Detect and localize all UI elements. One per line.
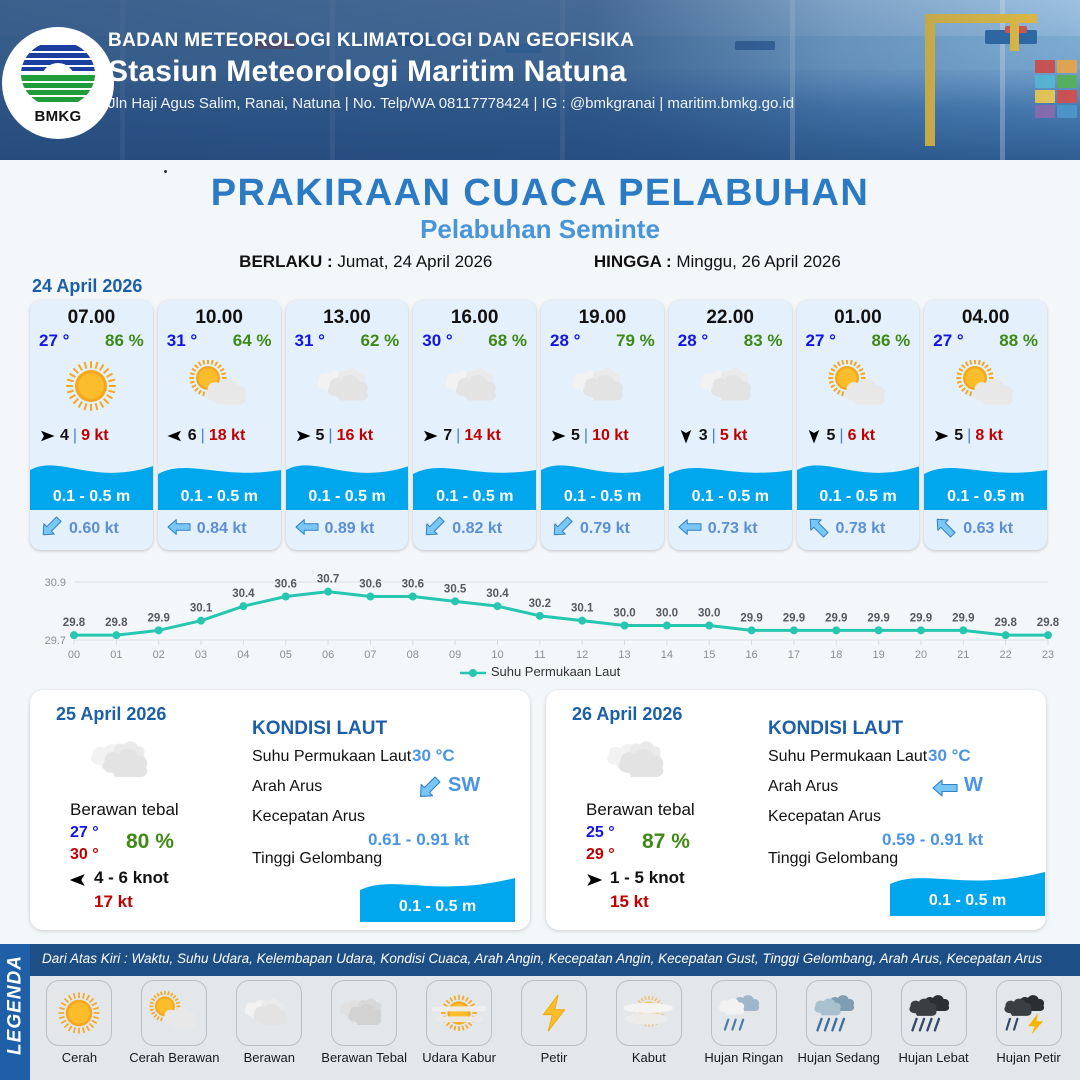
- agency-name: BADAN METEOROLOGI KLIMATOLOGI DAN GEOFIS…: [108, 30, 794, 52]
- card-current-row: 0.73 kt: [669, 514, 792, 544]
- day-wind-arrow: [66, 870, 90, 890]
- legend-item: Hujan Ringan: [696, 980, 791, 1065]
- legend-item-label: Cerah Berawan: [127, 1050, 222, 1065]
- legend-note-bar: Dari Atas Kiri : Waktu, Suhu Udara, Kele…: [30, 944, 1080, 976]
- day-wave-height: 0.1 - 0.5 m: [360, 898, 515, 916]
- bmkg-logo: BMKG: [2, 27, 114, 139]
- card-gust: 5 kt: [720, 427, 748, 445]
- legend-item-label: Hujan Sedang: [791, 1050, 886, 1065]
- sea-condition-title: KONDISI LAUT: [252, 718, 387, 740]
- svg-text:30.0: 30.0: [613, 608, 635, 620]
- card-wave-height: 0.1 - 0.5 m: [413, 488, 536, 506]
- legend-item-label: Berawan Tebal: [317, 1050, 412, 1065]
- card-current-speed: 0.89 kt: [325, 520, 375, 538]
- legend-item-label: Kabut: [601, 1050, 696, 1065]
- validity-row: BERLAKU : Jumat, 24 April 2026 HINGGA : …: [0, 252, 1080, 272]
- svg-text:29.8: 29.8: [1037, 617, 1060, 629]
- card-wave-height: 0.1 - 0.5 m: [924, 488, 1047, 506]
- current-direction-icon: [930, 776, 960, 800]
- current-direction-icon: [805, 516, 831, 538]
- current-direction-icon: [294, 516, 320, 538]
- svg-text:10: 10: [491, 649, 503, 661]
- card-temp-humidity-row: 28 ° 83 %: [669, 329, 792, 351]
- card-time: 01.00: [797, 307, 920, 329]
- card-wave-area: 0.1 - 0.5 m: [669, 452, 792, 510]
- current-speed-value: 0.59 - 0.91 kt: [882, 830, 983, 850]
- card-humidity: 86 %: [872, 331, 911, 351]
- legend-marker-icon: [460, 668, 486, 678]
- current-direction-label: Arah Arus: [252, 778, 322, 796]
- legend-item: Hujan Lebat: [886, 980, 981, 1065]
- card-temperature: 28 °: [678, 331, 708, 351]
- svg-text:30.6: 30.6: [359, 579, 381, 591]
- forecast-card[interactable]: 04.00 27 ° 88 % 5 | 8 kt 0.1 - 0.5 m 0.6…: [924, 300, 1047, 550]
- legend-item: Hujan Sedang: [791, 980, 886, 1065]
- card-time: 10.00: [158, 307, 281, 329]
- card-humidity: 62 %: [361, 331, 400, 351]
- card-time: 16.00: [413, 307, 536, 329]
- forecast-card[interactable]: 13.00 31 ° 62 % 5 | 16 kt 0.1 - 0.5 m 0.…: [286, 300, 409, 550]
- svg-text:19: 19: [872, 649, 884, 661]
- valid-until-value: Minggu, 26 April 2026: [676, 252, 840, 271]
- legend-icon-box: [806, 980, 872, 1046]
- card-wave-area: 0.1 - 0.5 m: [797, 452, 920, 510]
- card-wave-area: 0.1 - 0.5 m: [30, 452, 153, 510]
- legend-side-bar: LEGENDA: [0, 944, 30, 1080]
- svg-text:18: 18: [830, 649, 842, 661]
- svg-text:30.2: 30.2: [529, 598, 551, 610]
- svg-text:29.9: 29.9: [783, 612, 805, 624]
- wind-direction-icon: [37, 427, 57, 445]
- forecast-card[interactable]: 22.00 28 ° 83 % 3 | 5 kt 0.1 - 0.5 m 0.7…: [669, 300, 792, 550]
- card-humidity: 83 %: [744, 331, 783, 351]
- legend-icon-box: [46, 980, 112, 1046]
- svg-text:29.9: 29.9: [825, 612, 847, 624]
- svg-text:09: 09: [449, 649, 461, 661]
- card-current-speed: 0.82 kt: [452, 520, 502, 538]
- current-speed-label: Kecepatan Arus: [252, 808, 365, 826]
- separator: |: [73, 427, 77, 445]
- wind-direction-arrow: [165, 427, 185, 445]
- svg-text:30.9: 30.9: [45, 577, 66, 589]
- forecast-card[interactable]: 16.00 30 ° 68 % 7 | 14 kt 0.1 - 0.5 m 0.…: [413, 300, 536, 550]
- legend-item: Berawan Tebal: [317, 980, 412, 1065]
- legend-item-label: Berawan: [222, 1050, 317, 1065]
- svg-text:17: 17: [788, 649, 800, 661]
- separator: |: [328, 427, 332, 445]
- current-direction-arrow: [38, 516, 64, 543]
- separator: |: [712, 427, 716, 445]
- card-wind-speed: 7: [443, 427, 452, 445]
- day-temp-max: 30 °: [70, 846, 99, 864]
- legend-icon-box: [331, 980, 397, 1046]
- wind-direction-icon: [931, 427, 951, 445]
- card-temp-humidity-row: 28 ° 79 %: [541, 329, 664, 351]
- card-temperature: 31 °: [167, 331, 197, 351]
- legend-icon-list: Cerah Cerah Berawan Berawan Berawan Teba…: [32, 980, 1076, 1065]
- current-direction-icon: [166, 516, 192, 538]
- current-speed-value: 0.61 - 0.91 kt: [368, 830, 469, 850]
- card-wind-speed: 3: [699, 427, 708, 445]
- card-weather-icon: [924, 355, 1047, 417]
- sst-label: Suhu Permukaan Laut: [768, 748, 927, 766]
- current-direction-icon: [677, 516, 703, 538]
- current-direction-arrow: [805, 516, 831, 543]
- card-current-speed: 0.60 kt: [69, 520, 119, 538]
- sst-value: 30 °C: [928, 746, 971, 766]
- card-weather-icon: [669, 355, 792, 417]
- card-wind-speed: 5: [954, 427, 963, 445]
- current-direction-icon: [932, 516, 958, 538]
- contact-info: Jln Haji Agus Salim, Ranai, Natuna | No.…: [108, 95, 794, 112]
- card-wave-height: 0.1 - 0.5 m: [30, 488, 153, 506]
- card-time: 13.00: [286, 307, 409, 329]
- day-date: 25 April 2026: [56, 704, 166, 725]
- card-wind-row: 5 | 16 kt: [286, 421, 409, 451]
- svg-text:29.9: 29.9: [910, 612, 932, 624]
- forecast-card[interactable]: 19.00 28 ° 79 % 5 | 10 kt 0.1 - 0.5 m 0.…: [541, 300, 664, 550]
- wind-direction-icon: [676, 427, 696, 445]
- card-wind-speed: 6: [188, 427, 197, 445]
- legend-icon-box: [711, 980, 777, 1046]
- card-weather-icon: [413, 355, 536, 417]
- current-direction-value: SW: [448, 774, 480, 797]
- svg-text:29.9: 29.9: [952, 612, 974, 624]
- wind-direction-arrow: [420, 427, 440, 445]
- card-temp-humidity-row: 27 ° 86 %: [797, 329, 920, 351]
- day-wind-arrow: [582, 870, 606, 890]
- separator: |: [584, 427, 588, 445]
- valid-until-label: HINGGA :: [594, 252, 672, 271]
- card-current-speed: 0.73 kt: [708, 520, 758, 538]
- wind-direction-icon: [165, 427, 185, 445]
- svg-text:29.8: 29.8: [63, 617, 86, 629]
- card-temp-humidity-row: 30 ° 68 %: [413, 329, 536, 351]
- legend-item: Cerah Berawan: [127, 980, 222, 1065]
- svg-text:22: 22: [1000, 649, 1012, 661]
- wave-height-label: Tinggi Gelombang: [252, 850, 382, 868]
- svg-text:03: 03: [195, 649, 207, 661]
- svg-text:23: 23: [1042, 649, 1054, 661]
- svg-text:21: 21: [957, 649, 969, 661]
- wind-direction-arrow: [293, 427, 313, 445]
- day-temp-min: 25 °: [586, 824, 615, 842]
- forecast-card[interactable]: 10.00 31 ° 64 % 6 | 18 kt 0.1 - 0.5 m 0.…: [158, 300, 281, 550]
- sst-value: 30 °C: [412, 746, 455, 766]
- wind-direction-icon: [804, 427, 824, 445]
- wind-direction-icon: [293, 427, 313, 445]
- card-wave-area: 0.1 - 0.5 m: [286, 452, 409, 510]
- card-current-speed: 0.84 kt: [197, 520, 247, 538]
- current-direction-icon: [549, 516, 575, 538]
- card-wind-row: 3 | 5 kt: [669, 421, 792, 451]
- card-wave-height: 0.1 - 0.5 m: [541, 488, 664, 506]
- svg-text:29.7: 29.7: [45, 635, 66, 647]
- svg-text:30.6: 30.6: [402, 579, 424, 591]
- card-wave-height: 0.1 - 0.5 m: [286, 488, 409, 506]
- legend-item: Berawan: [222, 980, 317, 1065]
- current-direction-icon: [38, 516, 64, 538]
- legend-item: Udara Kabur: [412, 980, 507, 1065]
- wind-direction-icon: [66, 870, 90, 890]
- card-humidity: 68 %: [488, 331, 527, 351]
- card-gust: 6 kt: [848, 427, 876, 445]
- card-humidity: 86 %: [105, 331, 144, 351]
- svg-text:16: 16: [745, 649, 757, 661]
- day-condition: Berawan tebal: [70, 800, 179, 820]
- svg-text:30.1: 30.1: [190, 603, 213, 615]
- svg-text:29.9: 29.9: [867, 612, 889, 624]
- day-wind-speed: 1 - 5 knot: [610, 868, 685, 888]
- bmkg-logo-mark: [21, 41, 95, 107]
- card-wave-area: 0.1 - 0.5 m: [413, 452, 536, 510]
- page-header: BMKG BADAN METEOROLOGI KLIMATOLOGI DAN G…: [0, 0, 1080, 160]
- current-direction-arrow: [549, 516, 575, 543]
- current-direction-value: W: [964, 774, 983, 797]
- card-temp-humidity-row: 31 ° 62 %: [286, 329, 409, 351]
- legend-icon-box: [901, 980, 967, 1046]
- svg-text:29.8: 29.8: [994, 617, 1017, 629]
- card-humidity: 79 %: [616, 331, 655, 351]
- card-time: 22.00: [669, 307, 792, 329]
- card-wind-speed: 5: [316, 427, 325, 445]
- card-current-row: 0.84 kt: [158, 514, 281, 544]
- svg-text:29.8: 29.8: [105, 617, 128, 629]
- legend-item-label: Cerah: [32, 1050, 127, 1065]
- card-weather-icon: [158, 355, 281, 417]
- svg-text:30.6: 30.6: [275, 579, 297, 591]
- svg-text:30.4: 30.4: [486, 588, 509, 600]
- bmkg-logo-text: BMKG: [34, 108, 81, 125]
- card-wind-speed: 4: [60, 427, 69, 445]
- card-temperature: 27 °: [933, 331, 963, 351]
- legend-item-label: Hujan Lebat: [886, 1050, 981, 1065]
- svg-text:20: 20: [915, 649, 927, 661]
- svg-text:30.1: 30.1: [571, 603, 594, 615]
- card-gust: 16 kt: [337, 427, 373, 445]
- card-wind-row: 5 | 10 kt: [541, 421, 664, 451]
- current-direction-label: Arah Arus: [768, 778, 838, 796]
- day-temp-min: 27 °: [70, 824, 99, 842]
- legend-item: Cerah: [32, 980, 127, 1065]
- wave-height-label: Tinggi Gelombang: [768, 850, 898, 868]
- card-temp-humidity-row: 27 ° 86 %: [30, 329, 153, 351]
- card-wind-speed: 5: [571, 427, 580, 445]
- card-weather-icon: [286, 355, 409, 417]
- card-gust: 14 kt: [464, 427, 500, 445]
- current-direction-arrow: [166, 516, 192, 543]
- card-wave-height: 0.1 - 0.5 m: [158, 488, 281, 506]
- separator: |: [967, 427, 971, 445]
- separator: |: [201, 427, 205, 445]
- card-current-row: 0.79 kt: [541, 514, 664, 544]
- card-wind-row: 7 | 14 kt: [413, 421, 536, 451]
- card-temperature: 28 °: [550, 331, 580, 351]
- day-wind-speed: 4 - 6 knot: [94, 868, 169, 888]
- day-humidity: 87 %: [642, 830, 690, 854]
- card-temperature: 30 °: [422, 331, 452, 351]
- legend-icon-box: [616, 980, 682, 1046]
- card-temperature: 27 °: [806, 331, 836, 351]
- wind-direction-arrow: [676, 427, 696, 445]
- card-current-row: 0.82 kt: [413, 514, 536, 544]
- svg-text:11: 11: [534, 649, 545, 661]
- legend-item-label: Hujan Petir: [981, 1050, 1076, 1065]
- card-gust: 10 kt: [592, 427, 628, 445]
- station-name: Stasiun Meteorologi Maritim Natuna: [108, 55, 794, 89]
- svg-text:13: 13: [618, 649, 630, 661]
- legend-item: Hujan Petir: [981, 980, 1076, 1065]
- card-wave-area: 0.1 - 0.5 m: [158, 452, 281, 510]
- day-current-arrow: [414, 776, 444, 800]
- page-title: PRAKIRAAN CUACA PELABUHAN: [0, 172, 1080, 215]
- legend-icon-box: [521, 980, 587, 1046]
- current-direction-icon: [421, 516, 447, 538]
- card-humidity: 64 %: [233, 331, 272, 351]
- legend-item-label: Hujan Ringan: [696, 1050, 791, 1065]
- wind-direction-arrow: [804, 427, 824, 445]
- card-temp-humidity-row: 27 ° 88 %: [924, 329, 1047, 351]
- valid-from-value: Jumat, 24 April 2026: [337, 252, 492, 271]
- separator: |: [839, 427, 843, 445]
- card-wind-row: 5 | 8 kt: [924, 421, 1047, 451]
- current-direction-arrow: [932, 516, 958, 543]
- card-gust: 8 kt: [975, 427, 1003, 445]
- day-gust: 17 kt: [94, 892, 133, 912]
- legend-note: Dari Atas Kiri : Waktu, Suhu Udara, Kele…: [42, 951, 1042, 966]
- day-humidity: 80 %: [126, 830, 174, 854]
- day-condition: Berawan tebal: [586, 800, 695, 820]
- card-current-row: 0.89 kt: [286, 514, 409, 544]
- legend-side-label: LEGENDA: [5, 953, 27, 1058]
- chart-svg: 30.929.700010203040506070809101112131415…: [22, 558, 1060, 668]
- svg-text:30.4: 30.4: [232, 588, 255, 600]
- day-current-arrow: [930, 776, 960, 800]
- legend-icon-box: [141, 980, 207, 1046]
- sea-condition-title: KONDISI LAUT: [768, 718, 903, 740]
- card-wave-area: 0.1 - 0.5 m: [541, 452, 664, 510]
- wind-direction-arrow: [37, 427, 57, 445]
- wind-direction-icon: [420, 427, 440, 445]
- card-current-speed: 0.79 kt: [580, 520, 630, 538]
- forecast-card-list: 07.00 27 ° 86 % 4 | 9 kt 0.1 - 0.5 m 0.6…: [30, 300, 1052, 550]
- svg-text:01: 01: [110, 649, 122, 661]
- wind-direction-icon: [548, 427, 568, 445]
- legend-icon-box: [236, 980, 302, 1046]
- card-wave-height: 0.1 - 0.5 m: [669, 488, 792, 506]
- separator: |: [456, 427, 460, 445]
- card-gust: 18 kt: [209, 427, 245, 445]
- card-wind-row: 4 | 9 kt: [30, 421, 153, 451]
- forecast-card[interactable]: 01.00 27 ° 86 % 5 | 6 kt 0.1 - 0.5 m 0.7…: [797, 300, 920, 550]
- svg-text:05: 05: [280, 649, 292, 661]
- legend-section: LEGENDA Dari Atas Kiri : Waktu, Suhu Uda…: [0, 944, 1080, 1080]
- current-direction-arrow: [421, 516, 447, 543]
- daily-summary-panel: 25 April 2026 Berawan tebal 27 ° 30 ° 80…: [30, 690, 530, 930]
- day-date: 26 April 2026: [572, 704, 682, 725]
- legend-icon-box: [426, 980, 492, 1046]
- card-time: 04.00: [924, 307, 1047, 329]
- card-temperature: 31 °: [295, 331, 325, 351]
- card-current-speed: 0.78 kt: [836, 520, 886, 538]
- legend-item: Petir: [507, 980, 602, 1065]
- svg-text:14: 14: [661, 649, 673, 661]
- wind-direction-arrow: [931, 427, 951, 445]
- valid-from-label: BERLAKU :: [239, 252, 333, 271]
- svg-text:00: 00: [68, 649, 80, 661]
- daily-summary-panel: 26 April 2026 Berawan tebal 25 ° 29 ° 87…: [546, 690, 1046, 930]
- wind-direction-arrow: [548, 427, 568, 445]
- svg-text:30.7: 30.7: [317, 574, 339, 586]
- sst-line-chart: 30.929.700010203040506070809101112131415…: [22, 558, 1060, 668]
- legend-icon-box: [996, 980, 1062, 1046]
- svg-text:15: 15: [703, 649, 715, 661]
- current-direction-arrow: [294, 516, 320, 543]
- forecast-date-label: 24 April 2026: [32, 276, 142, 297]
- day-temp-max: 29 °: [586, 846, 615, 864]
- svg-text:30.5: 30.5: [444, 583, 467, 595]
- day-weather-icon: [598, 732, 682, 790]
- day-wave-height: 0.1 - 0.5 m: [890, 892, 1045, 910]
- card-time: 07.00: [30, 307, 153, 329]
- svg-text:30.0: 30.0: [656, 608, 678, 620]
- svg-text:08: 08: [407, 649, 419, 661]
- svg-text:04: 04: [237, 649, 249, 661]
- chart-legend: Suhu Permukaan Laut: [0, 664, 1080, 679]
- day-gust: 15 kt: [610, 892, 649, 912]
- card-wind-row: 6 | 18 kt: [158, 421, 281, 451]
- card-wind-row: 5 | 6 kt: [797, 421, 920, 451]
- svg-text:30.0: 30.0: [698, 608, 720, 620]
- legend-item: Kabut: [601, 980, 696, 1065]
- card-current-row: 0.63 kt: [924, 514, 1047, 544]
- card-current-speed: 0.63 kt: [963, 520, 1013, 538]
- card-wind-speed: 5: [827, 427, 836, 445]
- legend-item-label: Petir: [507, 1050, 602, 1065]
- card-time: 19.00: [541, 307, 664, 329]
- forecast-card[interactable]: 07.00 27 ° 86 % 4 | 9 kt 0.1 - 0.5 m 0.6…: [30, 300, 153, 550]
- svg-text:06: 06: [322, 649, 334, 661]
- card-wave-area: 0.1 - 0.5 m: [924, 452, 1047, 510]
- svg-text:07: 07: [364, 649, 376, 661]
- sst-label: Suhu Permukaan Laut: [252, 748, 411, 766]
- card-current-row: 0.60 kt: [30, 514, 153, 544]
- page-subtitle: Pelabuhan Seminte: [0, 214, 1080, 245]
- current-direction-arrow: [677, 516, 703, 543]
- wind-direction-icon: [582, 870, 606, 890]
- card-gust: 9 kt: [81, 427, 109, 445]
- legend-item-label: Udara Kabur: [412, 1050, 507, 1065]
- current-speed-label: Kecepatan Arus: [768, 808, 881, 826]
- header-text-block: BADAN METEOROLOGI KLIMATOLOGI DAN GEOFIS…: [108, 30, 794, 112]
- card-wave-height: 0.1 - 0.5 m: [797, 488, 920, 506]
- card-weather-icon: [797, 355, 920, 417]
- card-temp-humidity-row: 31 ° 64 %: [158, 329, 281, 351]
- svg-text:12: 12: [576, 649, 588, 661]
- day-weather-icon: [82, 732, 166, 790]
- chart-legend-label: Suhu Permukaan Laut: [491, 664, 620, 679]
- svg-text:02: 02: [153, 649, 165, 661]
- card-humidity: 88 %: [999, 331, 1038, 351]
- current-direction-icon: [414, 776, 444, 800]
- card-current-row: 0.78 kt: [797, 514, 920, 544]
- card-temperature: 27 °: [39, 331, 69, 351]
- card-weather-icon: [30, 355, 153, 417]
- card-weather-icon: [541, 355, 664, 417]
- svg-text:29.9: 29.9: [148, 612, 170, 624]
- svg-text:29.9: 29.9: [740, 612, 762, 624]
